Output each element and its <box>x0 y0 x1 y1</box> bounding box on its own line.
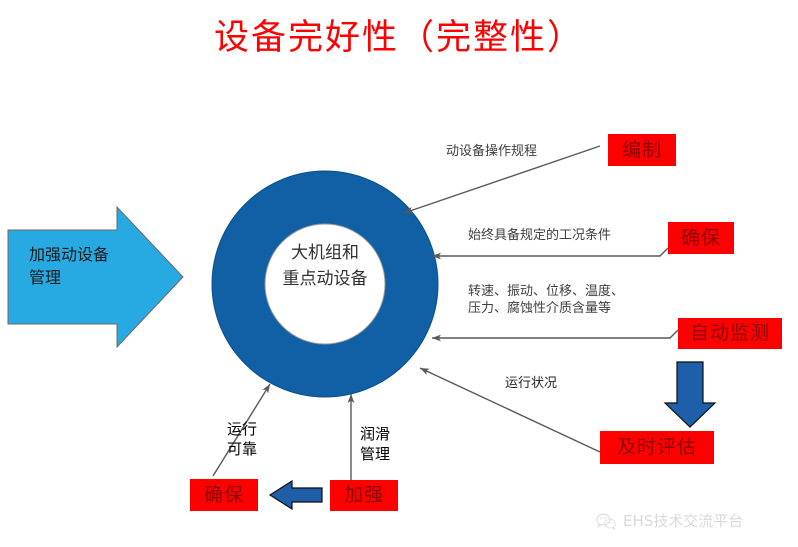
slide-canvas: 设备完好性（完整性） <box>0 0 798 547</box>
caption-evaluation: 运行状况 <box>505 375 557 392</box>
evaluation-down-arrow <box>665 362 715 427</box>
footer-watermark: EHS技术交流平台 <box>596 511 743 531</box>
wechat-icon <box>596 513 616 530</box>
box-ensure-conditions[interactable]: 确保 <box>668 222 734 254</box>
caption-conditions: 始终具备规定的工况条件 <box>468 227 611 244</box>
box-ensure-reliability[interactable]: 确保 <box>190 479 258 511</box>
box-timely-evaluation[interactable]: 及时评估 <box>600 431 714 464</box>
strengthen-to-ensure-arrow <box>270 481 322 509</box>
box-auto-monitoring[interactable]: 自动监测 <box>678 318 782 349</box>
caption-monitoring: 转速、振动、位移、温度、 压力、腐蚀性介质含量等 <box>468 283 624 317</box>
caption-lubrication: 润滑 管理 <box>360 424 390 464</box>
box-compile[interactable]: 编制 <box>608 134 676 166</box>
connector-monitoring <box>432 330 678 338</box>
box-strengthen[interactable]: 加强 <box>330 480 398 511</box>
caption-reliability: 运行 可靠 <box>227 419 257 459</box>
footer-watermark-text: EHS技术交流平台 <box>623 511 743 531</box>
core-label: 大机组和 重点动设备 <box>262 240 388 292</box>
caption-procedure: 动设备操作规程 <box>446 143 537 160</box>
connector-conditions <box>432 248 668 256</box>
inflow-label: 加强动设备 管理 <box>29 243 149 289</box>
